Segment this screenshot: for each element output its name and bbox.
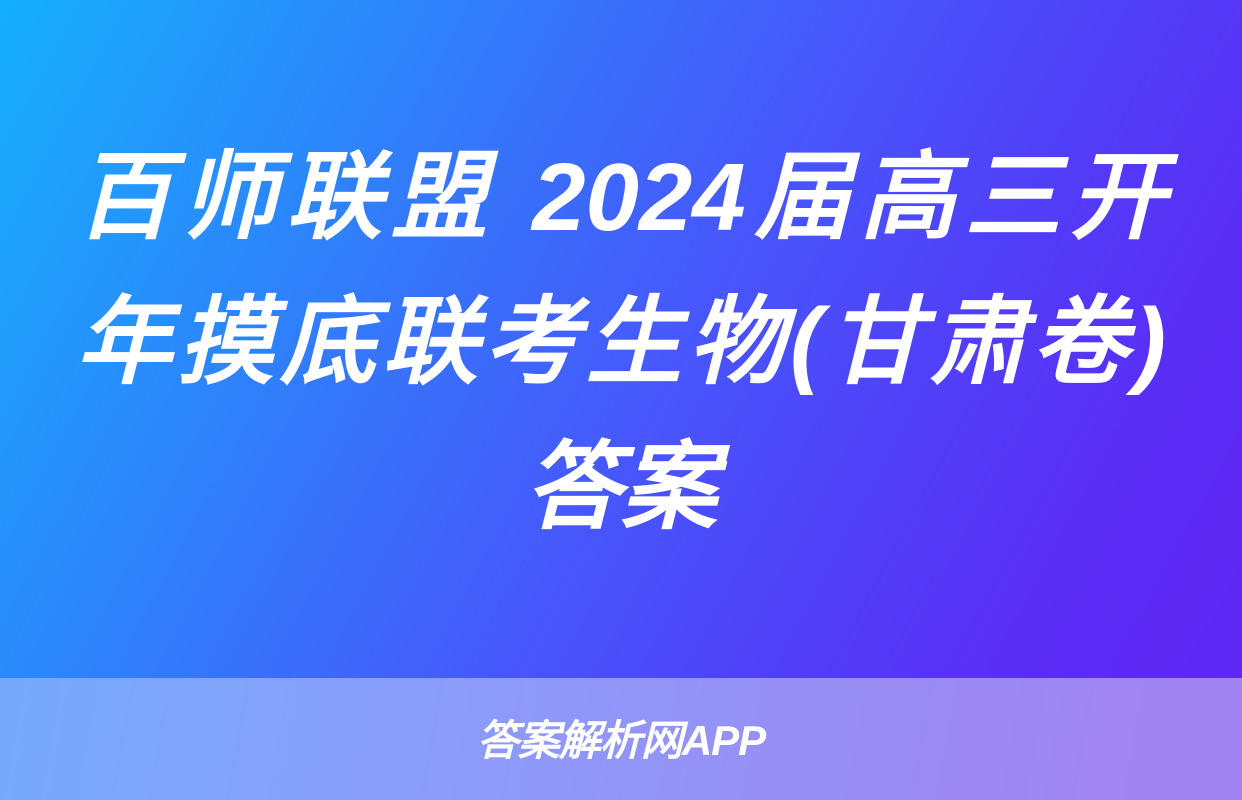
watermark-label: 答案解析网APP — [477, 720, 765, 762]
page-title-line-2: 年摸底联考生物(甘肃卷) — [76, 270, 1166, 415]
page-title-line-3: 答案 — [76, 415, 1166, 560]
watermark-bar: 答案解析网APP — [0, 678, 1242, 800]
hero-gradient-banner: 百师联盟 2024届高三开 年摸底联考生物(甘肃卷) 答案 — [0, 0, 1242, 678]
answer-poster: 百师联盟 2024届高三开 年摸底联考生物(甘肃卷) 答案 答案解析网APP — [0, 0, 1242, 800]
page-title: 百师联盟 2024届高三开 年摸底联考生物(甘肃卷) 答案 — [76, 119, 1166, 560]
page-title-line-1: 百师联盟 2024届高三开 — [76, 125, 1166, 270]
